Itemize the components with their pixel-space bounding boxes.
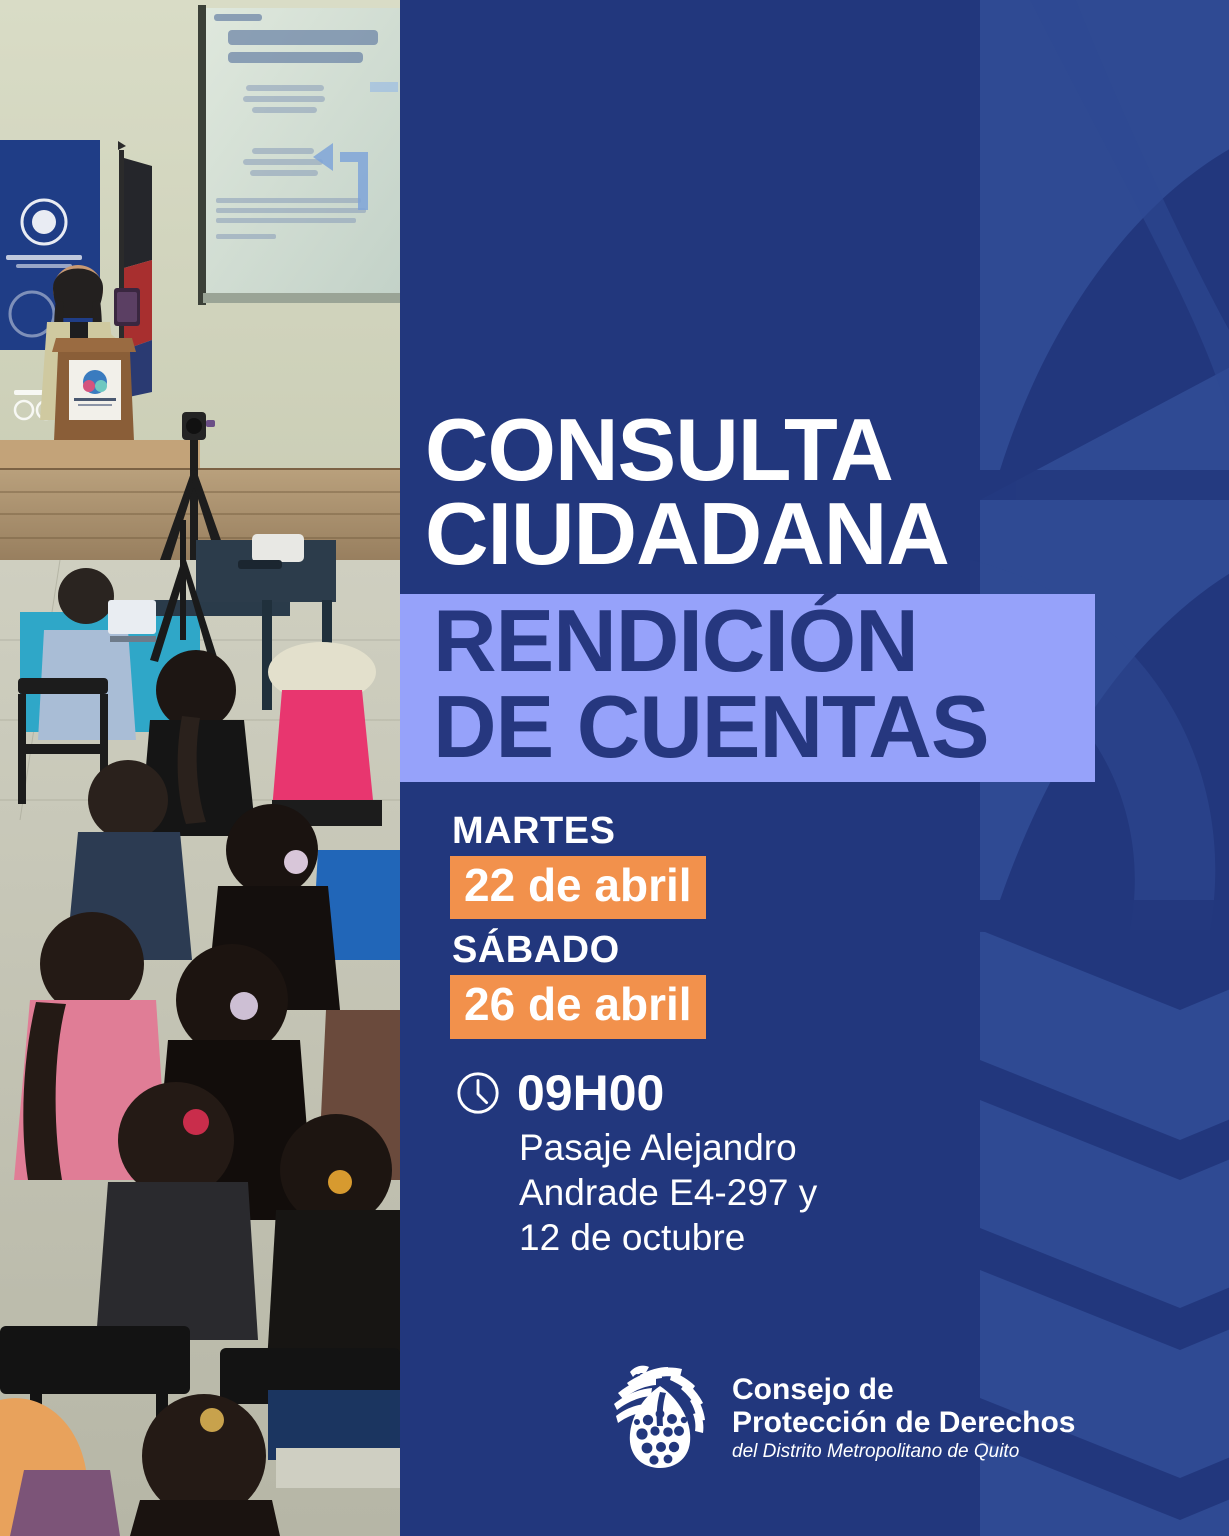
bird-emblem-icon [604, 1362, 716, 1474]
event-photo [0, 0, 400, 1536]
event-time: 09H00 [455, 1068, 664, 1118]
address-line-3: 12 de octubre [519, 1215, 939, 1260]
page-title: CONSULTA CIUDADANA [425, 408, 1105, 575]
clock-icon [455, 1070, 501, 1116]
logo-line-1: Consejo de [732, 1373, 1075, 1407]
event-dates: MARTES 22 de abril SÁBADO 26 de abril [450, 812, 1050, 1039]
subhead: RENDICIÓN DE CUENTAS [433, 598, 1123, 770]
event-address: Pasaje Alejandro Andrade E4-297 y 12 de … [519, 1125, 939, 1260]
weekday-label-1: MARTES [452, 812, 1050, 852]
subhead-line-2: DE CUENTAS [433, 684, 1123, 770]
logo-line-3: del Distrito Metropolitano de Quito [732, 1441, 1075, 1464]
headline-line-2: CIUDADANA [425, 492, 1105, 576]
address-line-2: Andrade E4-297 y [519, 1170, 939, 1215]
poster-canvas: CONSULTA CIUDADANA RENDICIÓN DE CUENTAS … [0, 0, 1229, 1536]
organization-logo: Consejo de Protección de Derechos del Di… [604, 1362, 1075, 1474]
date-badge-1: 22 de abril [450, 856, 706, 920]
weekday-label-2: SÁBADO [452, 931, 1050, 971]
date-badge-2: 26 de abril [450, 975, 706, 1039]
address-line-1: Pasaje Alejandro [519, 1125, 939, 1170]
logo-wordmark: Consejo de Protección de Derechos del Di… [732, 1373, 1075, 1464]
subhead-line-1: RENDICIÓN [433, 598, 1123, 684]
logo-line-2: Protección de Derechos [732, 1406, 1075, 1440]
time-value: 09H00 [517, 1068, 664, 1118]
